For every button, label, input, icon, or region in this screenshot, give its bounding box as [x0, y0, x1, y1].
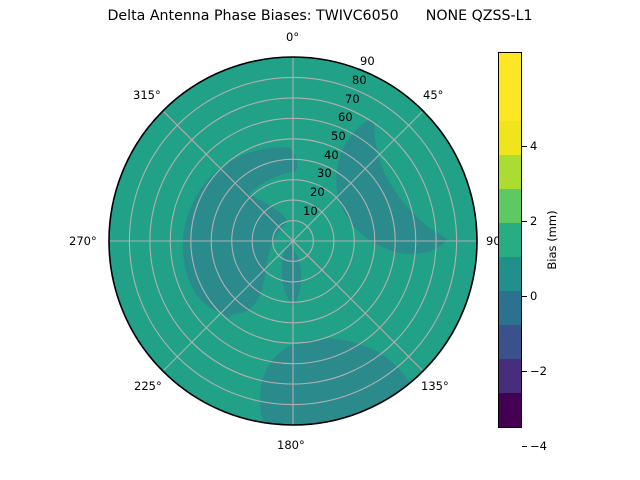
- colorbar-tick-label-0: 0: [530, 289, 537, 303]
- colorbar-band-4: [499, 189, 521, 223]
- colorbar-tick-mark-neg4: [522, 446, 527, 447]
- radial-label-30: 30: [317, 166, 332, 180]
- angular-label-315: 315°: [133, 88, 161, 102]
- colorbar-tick-label-neg4: −4: [530, 439, 547, 453]
- radial-label-10: 10: [303, 204, 318, 218]
- angular-gridlines: [109, 57, 477, 425]
- radial-label-40: 40: [324, 148, 339, 162]
- radial-label-20: 20: [310, 185, 325, 199]
- colorbar-band-2: [499, 121, 521, 155]
- colorbar[interactable]: 4 2 0 −2 −4: [498, 52, 522, 428]
- radial-label-50: 50: [331, 129, 346, 143]
- colorbar-gradient: [498, 52, 522, 428]
- colorbar-band-9: [499, 359, 521, 393]
- radial-label-70: 70: [345, 92, 360, 106]
- figure-canvas: Delta Antenna Phase Biases: TWIVC6050 NO…: [0, 0, 640, 480]
- colorbar-band-3: [499, 155, 521, 189]
- polar-plot-area: 0° 45° 90 135° 180° 225° 270° 315° 10 20…: [0, 0, 640, 480]
- colorbar-band-1: [499, 87, 521, 121]
- colorbar-band-7: [499, 291, 521, 325]
- angular-label-0: 0°: [286, 30, 299, 44]
- colorbar-band-0: [499, 53, 521, 87]
- colorbar-tick-mark-neg2: [522, 371, 527, 372]
- angular-label-270: 270°: [69, 234, 97, 248]
- colorbar-tick-mark-2: [522, 221, 527, 222]
- radial-label-80: 80: [352, 73, 367, 87]
- colorbar-band-10: [499, 393, 521, 427]
- radial-label-60: 60: [338, 110, 353, 124]
- colorbar-band-8: [499, 325, 521, 359]
- colorbar-tick-label-4: 4: [530, 139, 537, 153]
- angular-label-135: 135°: [421, 379, 449, 393]
- angular-label-225: 225°: [134, 379, 162, 393]
- colorbar-tick-label-neg2: −2: [530, 364, 547, 378]
- radial-label-90: 90: [360, 54, 375, 68]
- colorbar-tick-label-2: 2: [530, 214, 537, 228]
- colorbar-tick-mark-4: [522, 146, 527, 147]
- angular-label-180: 180°: [277, 438, 305, 452]
- colorbar-axis-label: Bias (mm): [545, 210, 559, 269]
- colorbar-tick-mark-0: [522, 296, 527, 297]
- colorbar-band-5: [499, 223, 521, 257]
- colorbar-band-6: [499, 257, 521, 291]
- angular-label-45: 45°: [423, 88, 443, 102]
